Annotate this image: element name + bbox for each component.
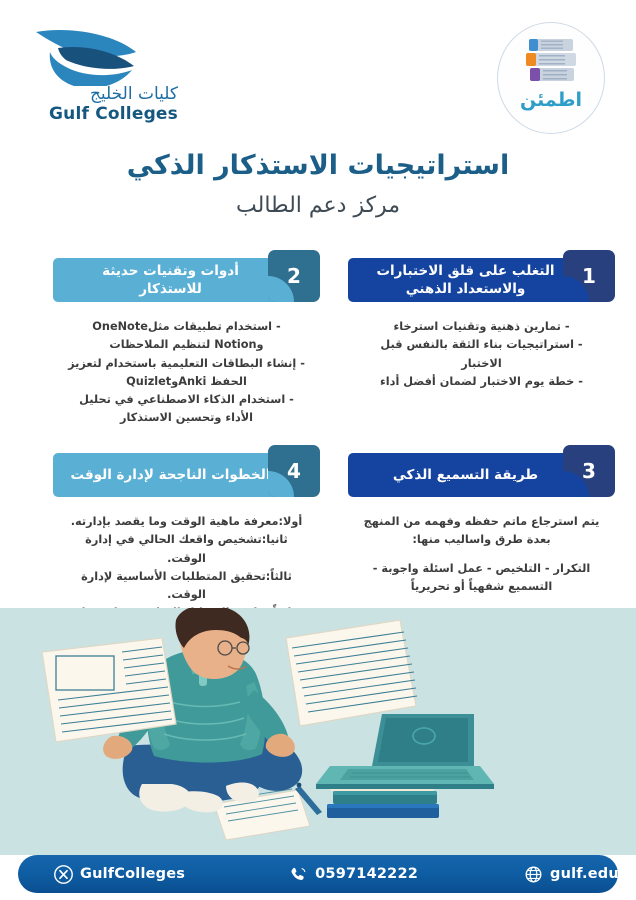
card-1-line-1: - تمارين ذهنية وتقنيات استرخاء (362, 318, 601, 336)
card-2-title: أدوات وتقنيات حديثة للاستذكار (53, 258, 282, 302)
card-3-number-badge: 3 (563, 445, 615, 497)
card-1-number: 1 (582, 264, 596, 288)
card-4-line-2: ثانيا:تشخيص واقعك الحالي في إدارة الوقت. (67, 531, 306, 568)
card-4-number-badge: 4 (268, 445, 320, 497)
footer-social[interactable]: GulfColleges (54, 865, 185, 884)
card-3-body: يتم استرجاع ماتم حفظه وفهمه من المنهج بع… (348, 499, 615, 612)
card-4-title: الخطوات الناجحة لإدارة الوقت (53, 453, 282, 497)
x-twitter-icon (54, 865, 73, 884)
footer-contact-bar: GulfColleges 0597142222 gulf.edu.sa (18, 855, 618, 893)
card-3-line-2: التكرار - التلخيص - عمل اسئلة واجوبة - ا… (362, 560, 601, 597)
etmaen-logo: اطمئن (497, 22, 605, 134)
page-subtitle: مركز دعم الطالب (0, 193, 636, 218)
card-1-body: - تمارين ذهنية وتقنيات استرخاء - استراتي… (348, 304, 615, 407)
card-2-body: - استخدام تطبيقات مثلOneNote وNotion لتن… (53, 304, 320, 444)
card-1-number-badge: 1 (563, 250, 615, 302)
student-studying-illustration (0, 608, 636, 855)
illustration-band (0, 608, 636, 855)
card-2-line-2: - إنشاء البطاقات التعليمية باستخدام لتعز… (67, 355, 306, 392)
footer-phone[interactable]: 0597142222 (289, 865, 418, 884)
phone-icon (289, 865, 308, 884)
card-2-number: 2 (287, 264, 301, 288)
card-1: التغلب على قلق الاختبارات والاستعداد الذ… (348, 250, 615, 407)
footer-social-label: GulfColleges (80, 866, 185, 882)
footer-phone-label: 0597142222 (315, 866, 418, 882)
card-2-line-3: - استخدام الذكاء الاصطناعي في تحليل الأد… (67, 391, 306, 428)
card-4-line-1: أولا:معرفة ماهية الوقت وما يقصد بإدارته. (67, 513, 306, 531)
card-4-line-3: ثالثاً:تحقيق المتطلبات الأساسية لإدارة ا… (67, 568, 306, 605)
card-2-number-badge: 2 (268, 250, 320, 302)
card-1-line-3: - خطة يوم الاختبار لضمان أفضل أداء (362, 373, 601, 391)
card-1-header-wrap: التغلب على قلق الاختبارات والاستعداد الذ… (348, 250, 615, 302)
page-title: استراتيجيات الاستذكار الذكي (0, 150, 636, 181)
etmaen-logo-name: اطمئن (498, 89, 604, 111)
card-3-header-wrap: طريقة التسميع الذكي 3 (348, 445, 615, 497)
right-paper-icon (286, 620, 417, 726)
card-2-line-1: - استخدام تطبيقات مثلOneNote وNotion لتن… (67, 318, 306, 355)
card-2-header-wrap: أدوات وتقنيات حديثة للاستذكار 2 (53, 250, 320, 302)
globe-icon (524, 865, 543, 884)
gulf-logo-english-name: Gulf Colleges (49, 104, 178, 124)
stacked-books-icon (521, 37, 583, 87)
card-3-title: طريقة التسميع الذكي (348, 453, 577, 497)
card-3-number: 3 (582, 459, 596, 483)
card-1-line-2: - استراتيجيات بناء الثقة بالنفس قبل الاخ… (362, 336, 601, 373)
card-3: طريقة التسميع الذكي 3 يتم استرجاع ماتم ح… (348, 445, 615, 612)
card-1-title: التغلب على قلق الاختبارات والاستعداد الذ… (348, 258, 577, 302)
gulf-colleges-wave-logo (28, 26, 180, 86)
gulf-logo-arabic-name: كليات الخليج (90, 84, 178, 104)
card-2: أدوات وتقنيات حديثة للاستذكار 2 - استخدا… (53, 250, 320, 444)
gulf-colleges-logo: كليات الخليج Gulf Colleges (28, 26, 180, 130)
footer-website-label: gulf.edu.sa (550, 866, 636, 882)
poster-canvas: كليات الخليج Gulf Colleges اطمئن استراتي… (0, 0, 636, 900)
card-3-line-1: يتم استرجاع ماتم حفظه وفهمه من المنهج بع… (362, 513, 601, 550)
footer-website[interactable]: gulf.edu.sa (524, 865, 636, 884)
card-4-header-wrap: الخطوات الناجحة لإدارة الوقت 4 (53, 445, 320, 497)
card-4-number: 4 (287, 459, 301, 483)
laptop-icon (316, 714, 494, 789)
left-paper-icon (42, 638, 176, 742)
